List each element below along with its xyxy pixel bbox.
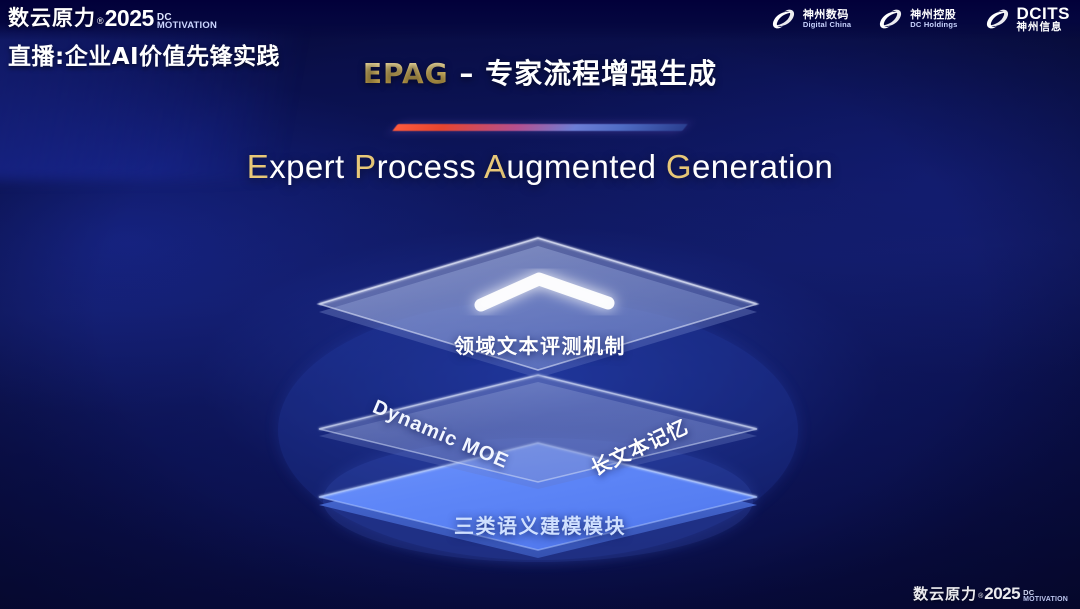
- watermark-year: 2025: [984, 584, 1020, 604]
- swirl-logo-icon: [877, 8, 904, 30]
- brand-motivation-text: MOTIVATION: [157, 22, 217, 31]
- slide-canvas: 领域文本评测机制 Dynamic MOE 长文本记忆 三类语义建模模块 数云原力…: [0, 0, 1080, 609]
- partner-name-en: DCITS: [1017, 5, 1071, 22]
- watermark-name-cn: 数云原力: [913, 583, 977, 604]
- subtitle-word-process: Process: [354, 148, 476, 185]
- subtitle-word-generation: Generation: [666, 148, 833, 185]
- subtitle-cap: E: [247, 148, 269, 185]
- subtitle-cap: P: [354, 148, 376, 185]
- subtitle-rest: xpert: [269, 148, 344, 185]
- registered-mark-icon: ®: [97, 16, 104, 26]
- partner-logo-digital-china: 神州数码 Digital China: [770, 8, 851, 30]
- partner-name-en: DC Holdings: [910, 21, 957, 29]
- watermark-registered-mark-icon: ®: [978, 593, 983, 600]
- partner-logo-dcits: DCITS 神州信息: [984, 5, 1071, 33]
- subtitle-cap: A: [484, 148, 506, 185]
- watermark-motivation-text: MOTIVATION: [1023, 597, 1068, 603]
- partner-logo-dc-holdings: 神州控股 DC Holdings: [877, 8, 957, 30]
- swirl-logo-icon: [770, 8, 797, 30]
- subtitle-rest: ugmented: [506, 148, 656, 185]
- brand-watermark: 数云原力 ® 2025 DC MOTIVATION: [913, 583, 1068, 604]
- partner-name-cn: 神州信息: [1017, 22, 1071, 33]
- partner-logo-text: 神州数码 Digital China: [803, 9, 851, 28]
- partner-name-en: Digital China: [803, 21, 851, 29]
- subtitle-word-augmented: Augmented: [484, 148, 656, 185]
- subtitle-rest: eneration: [692, 148, 833, 185]
- brand-name-cn: 数云原力: [8, 2, 96, 32]
- slide-title-chinese: 专家流程增强生成: [485, 57, 717, 90]
- slide-subtitle: Expert Process Augmented Generation: [0, 148, 1080, 186]
- partner-logo-text: 神州控股 DC Holdings: [910, 9, 957, 28]
- subtitle-rest: rocess: [377, 148, 477, 185]
- brand-year: 2025: [105, 5, 154, 32]
- partner-logo-text: DCITS 神州信息: [1017, 5, 1071, 33]
- subtitle-cap: G: [666, 148, 692, 185]
- live-stream-title: 直播:企业AI价值先锋实践: [8, 37, 280, 71]
- watermark-dc-motivation: DC MOTIVATION: [1023, 590, 1068, 604]
- title-divider-rule: [392, 124, 687, 131]
- slide-title-separator: –: [449, 57, 486, 90]
- brand-dc-motivation: DC MOTIVATION: [157, 13, 217, 32]
- partner-logo-bar: 神州数码 Digital China 神州控股 DC Holdings DCIT…: [770, 5, 1070, 33]
- swirl-logo-icon: [984, 8, 1011, 30]
- subtitle-word-expert: Expert: [247, 148, 345, 185]
- brand-logo: 数云原力 ® 2025 DC MOTIVATION: [8, 2, 280, 32]
- header-left: 数云原力 ® 2025 DC MOTIVATION 直播:企业AI价值先锋实践: [8, 2, 280, 71]
- slide-title-acronym: EPAG: [363, 57, 449, 90]
